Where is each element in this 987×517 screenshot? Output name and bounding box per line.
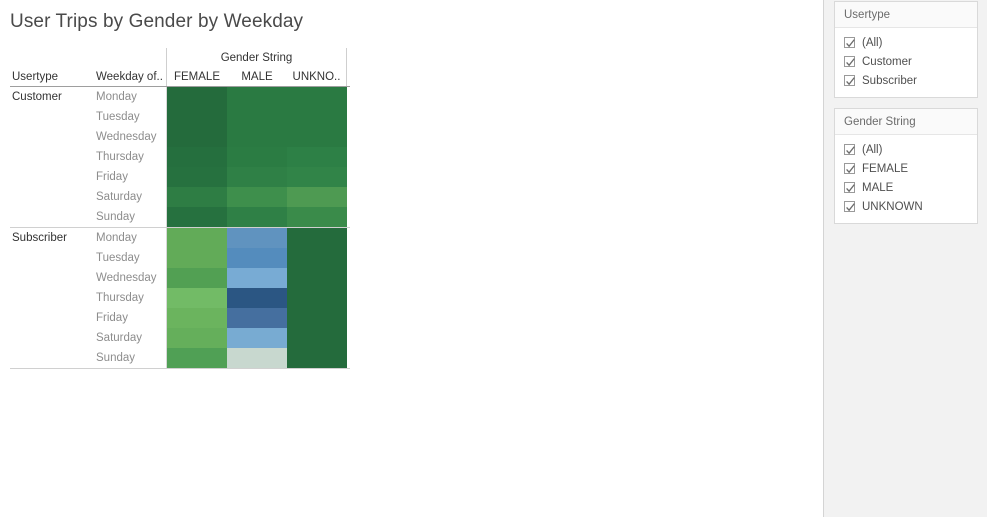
checkbox-icon[interactable] [844,75,855,86]
cell-weekday-label[interactable]: Thursday [92,288,167,308]
heatmap-cell[interactable] [167,268,227,288]
heatmap-cell[interactable] [227,167,287,187]
filter-item-gender-string-female[interactable]: FEMALE [835,159,977,178]
row-header-usertype[interactable]: Usertype [10,68,92,86]
column-group-header-gender-string: Gender String [167,48,347,68]
heatmap-cell[interactable] [227,147,287,167]
heatmap-cell[interactable] [167,107,227,127]
cell-weekday-label[interactable]: Sunday [92,207,167,227]
heatmap-cell[interactable] [167,187,227,207]
heatmap-cell[interactable] [287,167,347,187]
heatmap-cell[interactable] [287,288,347,308]
filter-item-label: Subscriber [862,75,917,87]
crosstab-body: CustomerMondayTuesdayWednesdayThursdayFr… [10,87,350,369]
cell-weekday-label[interactable]: Saturday [92,187,167,207]
cell-weekday-label[interactable]: Monday [92,87,167,107]
heatmap-cell[interactable] [287,147,347,167]
heatmap-cell[interactable] [227,348,287,368]
table-row: Saturday [10,328,350,348]
checkbox-icon[interactable] [844,56,855,67]
filter-item-label: UNKNOWN [862,201,923,213]
cell-weekday-label[interactable]: Thursday [92,147,167,167]
cell-usertype-label[interactable] [10,328,92,348]
filter-item-label: FEMALE [862,163,908,175]
heatmap-crosstab: Gender String Usertype Weekday of.. FEMA… [10,48,350,369]
heatmap-cell[interactable] [227,308,287,328]
table-row: SubscriberMonday [10,228,350,248]
heatmap-cell[interactable] [227,187,287,207]
page-title: User Trips by Gender by Weekday [10,11,303,33]
heatmap-cell[interactable] [287,107,347,127]
heatmap-cell[interactable] [287,248,347,268]
cell-usertype-label[interactable] [10,288,92,308]
table-row: Saturday [10,187,350,207]
table-row: Wednesday [10,127,350,147]
heatmap-cell[interactable] [167,328,227,348]
cell-usertype-label[interactable] [10,127,92,147]
heatmap-cell[interactable] [287,268,347,288]
checkbox-icon[interactable] [844,182,855,193]
heatmap-cell[interactable] [167,207,227,227]
filter-item-gender-string-male[interactable]: MALE [835,178,977,197]
filter-item-label: (All) [862,144,882,156]
filter-item-label: Customer [862,56,912,68]
filter-card-gender-string: Gender String (All)FEMALEMALEUNKNOWN [834,108,978,224]
cell-weekday-label[interactable]: Monday [92,228,167,248]
table-row: Friday [10,308,350,328]
heatmap-cell[interactable] [167,228,227,248]
heatmap-cell[interactable] [227,107,287,127]
cell-usertype-label[interactable]: Subscriber [10,228,92,248]
heatmap-cell[interactable] [227,288,287,308]
filter-item-label: (All) [862,37,882,49]
heatmap-cell[interactable] [287,328,347,348]
cell-weekday-label[interactable]: Saturday [92,328,167,348]
filter-item-usertype-all[interactable]: (All) [835,33,977,52]
header-corner-spacer [10,48,167,68]
cell-usertype-label[interactable] [10,107,92,127]
filter-list-usertype: (All)CustomerSubscriber [835,28,977,97]
filter-item-usertype-subscriber[interactable]: Subscriber [835,71,977,90]
heatmap-cell[interactable] [287,348,347,368]
crosstab-group-customer: CustomerMondayTuesdayWednesdayThursdayFr… [10,87,350,228]
cell-usertype-label[interactable] [10,248,92,268]
heatmap-cell[interactable] [287,207,347,227]
cell-weekday-label[interactable]: Friday [92,167,167,187]
tableau-dashboard: User Trips by Gender by Weekday Gender S… [0,0,987,517]
cell-weekday-label[interactable]: Wednesday [92,268,167,288]
worksheet-pane: User Trips by Gender by Weekday Gender S… [0,0,823,517]
filter-title-usertype: Usertype [835,2,977,28]
cell-usertype-label[interactable] [10,147,92,167]
filter-rail: Usertype (All)CustomerSubscriber Gender … [823,0,987,517]
table-row: CustomerMonday [10,87,350,107]
heatmap-cell[interactable] [287,127,347,147]
filter-item-label: MALE [862,182,893,194]
heatmap-cell[interactable] [167,308,227,328]
filter-item-gender-string-unknown[interactable]: UNKNOWN [835,197,977,216]
cell-usertype-label[interactable] [10,187,92,207]
heatmap-cell[interactable] [287,228,347,248]
heatmap-cell[interactable] [167,248,227,268]
table-row: Wednesday [10,268,350,288]
heatmap-cell[interactable] [227,228,287,248]
cell-weekday-label[interactable]: Wednesday [92,127,167,147]
cell-usertype-label[interactable] [10,268,92,288]
heatmap-cell[interactable] [227,268,287,288]
table-row: Thursday [10,147,350,167]
filter-card-usertype: Usertype (All)CustomerSubscriber [834,1,978,98]
table-row: Sunday [10,207,350,227]
filter-list-gender-string: (All)FEMALEMALEUNKNOWN [835,135,977,223]
table-row: Thursday [10,288,350,308]
filter-title-gender-string: Gender String [835,109,977,135]
heatmap-cell[interactable] [227,328,287,348]
heatmap-cell[interactable] [167,87,227,107]
cell-usertype-label[interactable]: Customer [10,87,92,107]
row-header-weekday[interactable]: Weekday of.. [92,68,167,86]
checkbox-icon[interactable] [844,144,855,155]
column-header-row: Usertype Weekday of.. FEMALE MALE UNKNO.… [10,68,350,87]
cell-usertype-label[interactable] [10,348,92,368]
heatmap-cell[interactable] [287,308,347,328]
cell-weekday-label[interactable]: Tuesday [92,107,167,127]
checkbox-icon[interactable] [844,201,855,212]
column-group-header-row: Gender String [10,48,350,68]
table-row: Sunday [10,348,350,368]
cell-usertype-label[interactable] [10,167,92,187]
heatmap-cell[interactable] [287,87,347,107]
crosstab-group-subscriber: SubscriberMondayTuesdayWednesdayThursday… [10,228,350,369]
cell-usertype-label[interactable] [10,207,92,227]
filter-item-gender-string-all[interactable]: (All) [835,140,977,159]
heatmap-cell[interactable] [167,127,227,147]
heatmap-cell[interactable] [167,288,227,308]
heatmap-cell[interactable] [167,147,227,167]
cell-usertype-label[interactable] [10,308,92,328]
column-header-unknown[interactable]: UNKNO.. [287,68,347,86]
checkbox-icon[interactable] [844,37,855,48]
table-row: Friday [10,167,350,187]
checkbox-icon[interactable] [844,163,855,174]
column-header-male[interactable]: MALE [227,68,287,86]
heatmap-cell[interactable] [227,87,287,107]
table-row: Tuesday [10,248,350,268]
heatmap-cell[interactable] [227,207,287,227]
heatmap-cell[interactable] [227,127,287,147]
table-row: Tuesday [10,107,350,127]
cell-weekday-label[interactable]: Tuesday [92,248,167,268]
heatmap-cell[interactable] [167,348,227,368]
cell-weekday-label[interactable]: Sunday [92,348,167,368]
heatmap-cell[interactable] [167,167,227,187]
heatmap-cell[interactable] [227,248,287,268]
filter-item-usertype-customer[interactable]: Customer [835,52,977,71]
cell-weekday-label[interactable]: Friday [92,308,167,328]
column-header-female[interactable]: FEMALE [167,68,227,86]
heatmap-cell[interactable] [287,187,347,207]
